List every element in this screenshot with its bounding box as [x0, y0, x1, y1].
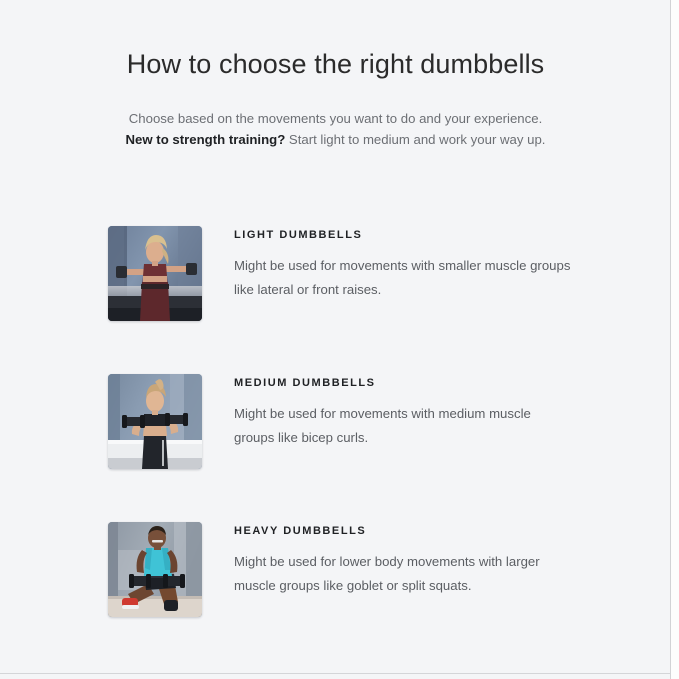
- bicep-curl-photo-icon: [108, 374, 202, 469]
- dumbbell-options-list: LIGHT DUMBBELLS Might be used for moveme…: [0, 200, 671, 644]
- item-title: LIGHT DUMBBELLS: [234, 228, 575, 242]
- item-text-block: LIGHT DUMBBELLS Might be used for moveme…: [234, 228, 575, 302]
- lateral-raise-photo-icon: [108, 226, 202, 321]
- list-item: LIGHT DUMBBELLS Might be used for moveme…: [0, 200, 671, 348]
- thumbnail-light-dumbbells: [108, 226, 202, 321]
- page-subtitle: Choose based on the movements you want t…: [0, 82, 671, 150]
- list-item: HEAVY DUMBBELLS Might be used for lower …: [0, 496, 671, 644]
- scrollbar-gutter[interactable]: [671, 0, 679, 679]
- subtitle-emphasis: New to strength training?: [126, 132, 286, 147]
- item-text-block: HEAVY DUMBBELLS Might be used for lower …: [234, 524, 575, 598]
- page-title: How to choose the right dumbbells: [0, 0, 671, 82]
- item-description: Might be used for movements with smaller…: [234, 242, 574, 302]
- thumbnail-heavy-dumbbells: [108, 522, 202, 617]
- subtitle-line-1: Choose based on the movements you want t…: [129, 111, 542, 126]
- item-description: Might be used for movements with medium …: [234, 390, 574, 450]
- item-title: MEDIUM DUMBBELLS: [234, 376, 575, 390]
- bottom-divider: [0, 673, 671, 674]
- item-title: HEAVY DUMBBELLS: [234, 524, 575, 538]
- thumbnail-medium-dumbbells: [108, 374, 202, 469]
- scrollbar-track-edge[interactable]: [670, 0, 671, 679]
- item-text-block: MEDIUM DUMBBELLS Might be used for movem…: [234, 376, 575, 450]
- page-root: How to choose the right dumbbells Choose…: [0, 0, 679, 679]
- split-squat-photo-icon: [108, 522, 202, 617]
- content-area: How to choose the right dumbbells Choose…: [0, 0, 671, 672]
- list-item: MEDIUM DUMBBELLS Might be used for movem…: [0, 348, 671, 496]
- subtitle-line-2-rest: Start light to medium and work your way …: [285, 132, 545, 147]
- subtitle-line-2: New to strength training? Start light to…: [0, 129, 671, 150]
- item-description: Might be used for lower body movements w…: [234, 538, 574, 598]
